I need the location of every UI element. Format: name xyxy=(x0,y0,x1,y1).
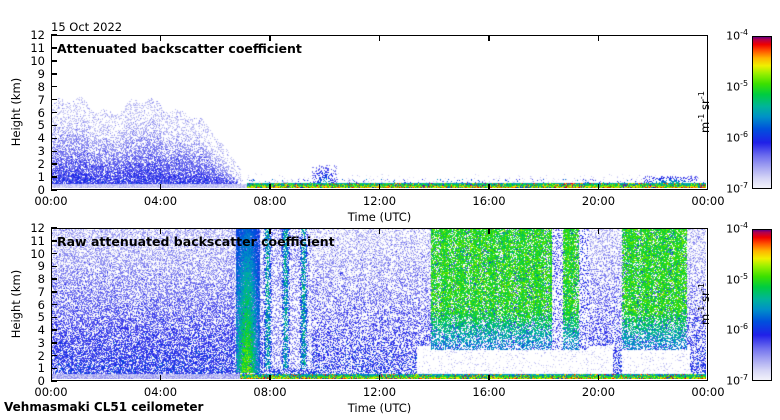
y-axis-tick-mark xyxy=(51,253,57,255)
y-axis-label: Height (km) xyxy=(9,264,23,344)
x-axis-tick-label: 00:00 xyxy=(34,385,67,399)
x-axis-tick-mark-top xyxy=(488,35,490,41)
y-axis-tick-mark xyxy=(51,176,57,178)
plot-frame xyxy=(51,35,708,190)
y-axis-tick-mark xyxy=(51,125,57,127)
y-axis-tick-mark xyxy=(51,266,57,268)
x-axis-tick-label: 04:00 xyxy=(144,194,177,208)
y-axis-tick-label: 11 xyxy=(17,41,45,55)
x-axis-tick-label: 08:00 xyxy=(253,194,286,208)
x-axis-tick-mark-bottom xyxy=(160,184,162,190)
x-axis-tick-label: 16:00 xyxy=(472,385,505,399)
x-axis-tick-mark-top xyxy=(488,228,490,234)
x-axis-tick-label: 20:00 xyxy=(582,194,615,208)
x-axis-tick-mark-top xyxy=(269,228,271,234)
y-axis-tick-mark xyxy=(51,380,57,382)
y-axis-tick-mark xyxy=(51,342,57,344)
y-axis-tick-mark xyxy=(51,34,57,36)
y-axis-tick-mark xyxy=(51,304,57,306)
y-axis-tick-mark xyxy=(51,112,57,114)
x-axis-tick-mark-bottom xyxy=(598,184,600,190)
colorbar-gradient xyxy=(753,230,771,380)
colorbar-unit-label: m-1 sr-1 xyxy=(698,269,712,339)
colorbar-tick-label: 10-7 xyxy=(717,183,748,196)
x-axis-tick-mark-bottom xyxy=(488,184,490,190)
y-axis-label: Height (km) xyxy=(9,72,23,152)
y-axis-tick-label: 12 xyxy=(17,221,45,235)
colorbar-tick-label: 10-7 xyxy=(717,375,748,388)
y-axis-tick-label: 2 xyxy=(17,157,45,171)
colorbar-tick-label: 10-6 xyxy=(717,132,748,145)
x-axis-tick-label: 12:00 xyxy=(363,385,396,399)
colorbar-unit-label: m-1 sr-1 xyxy=(698,77,712,147)
x-axis-tick-mark-top xyxy=(160,228,162,234)
panel-title: Raw attenuated backscatter coefficient xyxy=(57,234,335,249)
backscatter-heatmap-canvas xyxy=(52,36,706,188)
y-axis-tick-mark xyxy=(51,163,57,165)
x-axis-tick-label: 00:00 xyxy=(691,194,724,208)
y-axis-tick-label: 11 xyxy=(17,234,45,248)
x-axis-tick-mark-top xyxy=(379,35,381,41)
y-axis-tick-mark xyxy=(51,355,57,357)
colorbar-tick-label: 10-5 xyxy=(717,273,748,286)
x-axis-tick-mark-bottom xyxy=(379,184,381,190)
panel-title: Attenuated backscatter coefficient xyxy=(57,41,302,56)
plot-frame xyxy=(51,228,708,381)
colorbar-tick-label: 10-4 xyxy=(717,223,748,236)
y-axis-tick-mark xyxy=(51,138,57,140)
footer-site-label: Vehmasmaki CL51 ceilometer xyxy=(4,400,203,414)
x-axis-tick-label: 20:00 xyxy=(582,385,615,399)
colorbar xyxy=(752,229,772,381)
x-axis-tick-mark-bottom xyxy=(269,375,271,381)
x-axis-label: Time (UTC) xyxy=(348,210,412,224)
x-axis-tick-label: 12:00 xyxy=(363,194,396,208)
x-axis-label: Time (UTC) xyxy=(348,401,412,415)
y-axis-tick-label: 10 xyxy=(17,54,45,68)
x-axis-tick-label: 08:00 xyxy=(253,385,286,399)
y-axis-tick-mark xyxy=(51,47,57,49)
x-axis-tick-mark-bottom xyxy=(379,375,381,381)
y-axis-tick-label: 12 xyxy=(17,28,45,42)
y-axis-tick-mark xyxy=(51,291,57,293)
x-axis-tick-label: 04:00 xyxy=(144,385,177,399)
x-axis-tick-mark-bottom xyxy=(269,184,271,190)
x-axis-tick-mark-bottom xyxy=(598,375,600,381)
x-axis-tick-label: 00:00 xyxy=(34,194,67,208)
x-axis-tick-mark-top xyxy=(269,35,271,41)
y-axis-tick-mark xyxy=(51,189,57,191)
y-axis-tick-mark xyxy=(51,86,57,88)
y-axis-tick-mark xyxy=(51,240,57,242)
backscatter-heatmap-canvas xyxy=(52,229,706,379)
x-axis-tick-mark-top xyxy=(379,228,381,234)
y-axis-tick-mark xyxy=(51,368,57,370)
colorbar-tick-label: 10-4 xyxy=(717,30,748,43)
colorbar-tick-label: 10-6 xyxy=(717,324,748,337)
y-axis-tick-mark xyxy=(51,227,57,229)
x-axis-tick-mark-top xyxy=(160,35,162,41)
colorbar-gradient xyxy=(753,37,771,188)
y-axis-tick-mark xyxy=(51,73,57,75)
y-axis-tick-mark xyxy=(51,278,57,280)
x-axis-tick-mark-top xyxy=(598,35,600,41)
x-axis-tick-mark-bottom xyxy=(488,375,490,381)
y-axis-tick-label: 1 xyxy=(17,170,45,184)
y-axis-tick-mark xyxy=(51,151,57,153)
y-axis-tick-label: 2 xyxy=(17,349,45,363)
y-axis-tick-label: 10 xyxy=(17,247,45,261)
date-label: 15 Oct 2022 xyxy=(51,20,122,34)
y-axis-tick-mark xyxy=(51,60,57,62)
colorbar xyxy=(752,36,772,189)
y-axis-tick-mark xyxy=(51,317,57,319)
x-axis-tick-mark-top xyxy=(598,228,600,234)
y-axis-tick-mark xyxy=(51,99,57,101)
colorbar-tick-label: 10-5 xyxy=(717,81,748,94)
x-axis-tick-label: 16:00 xyxy=(472,194,505,208)
x-axis-tick-mark-bottom xyxy=(160,375,162,381)
y-axis-tick-label: 1 xyxy=(17,361,45,375)
y-axis-tick-mark xyxy=(51,329,57,331)
